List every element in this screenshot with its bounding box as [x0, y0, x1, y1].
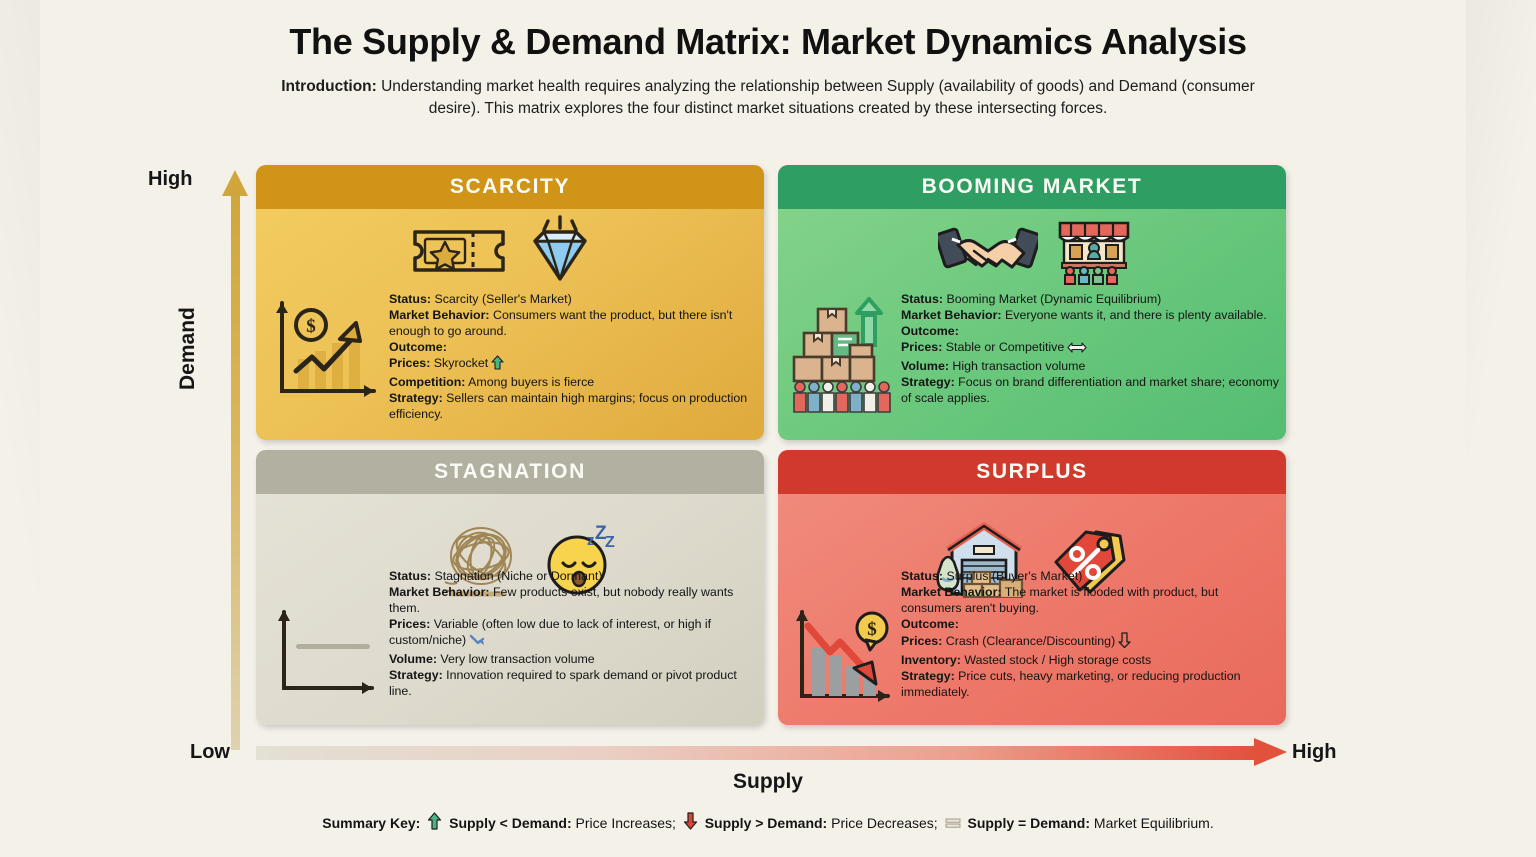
quadrant-surplus-body: $ Status: Surplus (Buyer's Market) Marke…	[778, 494, 1286, 725]
quadrant-scarcity-body: $ Status: Scarcity (Seller's Market) Mar…	[256, 209, 764, 440]
surplus-line-4-label: Inventory:	[901, 653, 961, 667]
summary-item-1-text: Price Decreases;	[827, 815, 937, 831]
surplus-line-4-text: Wasted stock / High storage costs	[961, 653, 1151, 667]
down-arrow-outline-icon	[1118, 632, 1131, 652]
stagnation-line-4-label: Strategy:	[389, 668, 443, 682]
equals-bars-icon	[945, 816, 961, 833]
boxes-up-arrow-crowd-icon	[790, 287, 894, 413]
booming-line-1-text: Everyone wants it, and there is plenty a…	[1002, 308, 1267, 322]
left-right-arrow-icon	[1067, 341, 1087, 358]
supply-axis	[256, 738, 1291, 766]
surplus-line-0-text: Surplus (Buyer's Market)	[943, 569, 1082, 583]
supply-axis-label: Supply	[0, 770, 1536, 794]
surplus-text-block: Status: Surplus (Buyer's Market) Market …	[901, 568, 1273, 700]
page-header: The Supply & Demand Matrix: Market Dynam…	[0, 22, 1536, 121]
booming-line-1: Market Behavior: Everyone wants it, and …	[901, 307, 1279, 323]
demand-high-label: High	[148, 168, 192, 191]
booming-line-0-text: Booming Market (Dynamic Equilibrium)	[943, 292, 1161, 306]
summary-key-label: Summary Key:	[322, 815, 420, 831]
summary-key: Summary Key: Supply < Demand: Price Incr…	[0, 812, 1536, 833]
surplus-line-1: Market Behavior: The market is flooded w…	[901, 584, 1273, 616]
handshake-icon	[938, 217, 1038, 283]
stagnation-line-3: Volume: Very low transaction volume	[389, 651, 747, 667]
booming-line-5-label: Strategy:	[901, 375, 955, 389]
quadrant-booming-heading: BOOMING MARKET	[778, 165, 1286, 209]
summary-item-0-text: Price Increases;	[572, 815, 676, 831]
introduction-label: Introduction:	[281, 78, 377, 95]
stagnation-line-1: Market Behavior: Few products exist, but…	[389, 584, 747, 616]
scarcity-line-0-text: Scarcity (Seller's Market)	[431, 292, 572, 306]
supply-high-label: High	[1292, 741, 1336, 764]
surplus-line-3-text: Crash (Clearance/Discounting)	[942, 634, 1115, 648]
booming-line-3: Prices: Stable or Competitive	[901, 339, 1279, 358]
up-arrow-green-icon	[491, 355, 504, 374]
stagnation-line-0-text: Stagnation (Niche or Dormant)	[431, 569, 602, 583]
demand-axis	[222, 170, 248, 750]
booming-line-5: Strategy: Focus on brand differentiation…	[901, 374, 1279, 406]
scarcity-line-3-label: Prices:	[389, 356, 430, 370]
booming-line-0-label: Status:	[901, 292, 943, 306]
introduction-text: Understanding market health requires ana…	[377, 78, 1255, 117]
quadrant-booming-body: Status: Booming Market (Dynamic Equilibr…	[778, 209, 1286, 440]
booming-line-4: Volume: High transaction volume	[901, 358, 1279, 374]
stagnation-text-block: Status: Stagnation (Niche or Dormant) Ma…	[389, 568, 747, 699]
surplus-line-4: Inventory: Wasted stock / High storage c…	[901, 652, 1273, 668]
surplus-line-2: Outcome:	[901, 616, 1273, 632]
stagnation-line-3-text: Very low transaction volume	[437, 652, 595, 666]
down-right-arrow-blue-icon	[469, 634, 486, 651]
stagnation-line-2-label: Prices:	[389, 617, 430, 631]
quadrant-surplus-heading: SURPLUS	[778, 450, 1286, 494]
scarcity-line-5-label: Strategy:	[389, 391, 443, 405]
booming-line-2: Outcome:	[901, 323, 1279, 339]
quadrant-scarcity[interactable]: SCARCITY	[256, 165, 764, 440]
svg-text:Z: Z	[605, 534, 615, 551]
scarcity-line-4: Competition: Among buyers is fierce	[389, 374, 752, 390]
page-title: The Supply & Demand Matrix: Market Dynam…	[0, 22, 1536, 62]
demand-axis-label: Demand	[176, 307, 200, 390]
surplus-line-1-label: Market Behavior:	[901, 585, 1002, 599]
scarcity-line-0-label: Status:	[389, 292, 431, 306]
scarcity-line-1-label: Market Behavior:	[389, 308, 490, 322]
supply-axis-shaft	[256, 746, 1256, 760]
quadrant-booming-market[interactable]: BOOMING MARKET	[778, 165, 1286, 440]
market-stall-icon	[1054, 215, 1134, 285]
surplus-line-3: Prices: Crash (Clearance/Discounting)	[901, 632, 1273, 652]
quadrant-stagnation-heading: STAGNATION	[256, 450, 764, 494]
scarcity-line-1: Market Behavior: Consumers want the prod…	[389, 307, 752, 339]
scarcity-line-2: Outcome:	[389, 339, 752, 355]
booming-line-4-label: Volume:	[901, 359, 949, 373]
summary-item-1-bold: Supply > Demand:	[705, 815, 828, 831]
supply-axis-arrowhead	[1254, 738, 1287, 766]
booming-text-block: Status: Booming Market (Dynamic Equilibr…	[901, 291, 1279, 406]
surplus-line-5: Strategy: Price cuts, heavy marketing, o…	[901, 668, 1273, 700]
booming-line-4-text: High transaction volume	[949, 359, 1085, 373]
surplus-line-0-label: Status:	[901, 569, 943, 583]
quadrant-scarcity-heading: SCARCITY	[256, 165, 764, 209]
booming-line-1-label: Market Behavior:	[901, 308, 1002, 322]
scarcity-text-block: Status: Scarcity (Seller's Market) Marke…	[389, 291, 752, 422]
booming-line-5-text: Focus on brand differentiation and marke…	[901, 375, 1279, 405]
booming-line-3-text: Stable or Competitive	[942, 340, 1064, 354]
scarcity-line-3-text: Skyrocket	[430, 356, 488, 370]
diamond-icon	[523, 215, 597, 287]
booming-line-2-label: Outcome:	[901, 324, 959, 338]
paper-edge-right	[1466, 0, 1536, 857]
demand-axis-shaft	[231, 192, 240, 750]
down-arrow-red-icon	[683, 812, 698, 833]
scarcity-line-5: Strategy: Sellers can maintain high marg…	[389, 390, 752, 422]
stagnation-line-2-text: Variable (often low due to lack of inter…	[389, 617, 711, 647]
surplus-line-3-label: Prices:	[901, 634, 942, 648]
summary-item-2-bold: Supply = Demand:	[967, 815, 1090, 831]
scarcity-line-0: Status: Scarcity (Seller's Market)	[389, 291, 752, 307]
paper-edge-left	[0, 0, 40, 857]
stagnation-line-3-label: Volume:	[389, 652, 437, 666]
surplus-side-icon: $	[790, 606, 898, 715]
scarcity-line-3: Prices: Skyrocket	[389, 355, 752, 374]
quadrant-stagnation[interactable]: STAGNATION	[256, 450, 764, 725]
stagnation-line-2: Prices: Variable (often low due to lack …	[389, 616, 747, 651]
demand-low-label: Low	[190, 741, 230, 764]
scarcity-side-icon: $	[270, 297, 382, 408]
surplus-line-0: Status: Surplus (Buyer's Market)	[901, 568, 1273, 584]
up-arrow-green-icon	[427, 812, 442, 833]
surplus-line-2-label: Outcome:	[901, 617, 959, 631]
booming-line-3-label: Prices:	[901, 340, 942, 354]
quadrant-surplus[interactable]: SURPLUS	[778, 450, 1286, 725]
quadrant-stagnation-body: z Z Z Status: Stagnation (Niche or Dorma…	[256, 494, 764, 725]
booming-icon-row	[938, 215, 1134, 285]
flat-line-chart-icon	[270, 606, 380, 702]
rising-chart-dollar-icon: $	[270, 297, 382, 403]
booming-line-0: Status: Booming Market (Dynamic Equilibr…	[901, 291, 1279, 307]
ticket-star-icon	[411, 218, 507, 284]
scarcity-line-5-text: Sellers can maintain high margins; focus…	[389, 391, 747, 421]
stagnation-line-4: Strategy: Innovation required to spark d…	[389, 667, 747, 699]
stagnation-line-0-label: Status:	[389, 569, 431, 583]
summary-item-0-bold: Supply < Demand:	[449, 815, 572, 831]
stagnation-line-0: Status: Stagnation (Niche or Dormant)	[389, 568, 747, 584]
scarcity-line-4-text: Among buyers is fierce	[465, 375, 594, 389]
svg-text:$: $	[867, 619, 877, 640]
surplus-line-5-label: Strategy:	[901, 669, 955, 683]
stagnation-side-icon	[270, 606, 380, 707]
booming-side-icon	[790, 287, 894, 418]
scarcity-line-2-label: Outcome:	[389, 340, 447, 354]
scarcity-line-4-label: Competition:	[389, 375, 465, 389]
summary-item-2-text: Market Equilibrium.	[1090, 815, 1214, 831]
svg-text:$: $	[306, 316, 316, 337]
scarcity-icon-row	[411, 215, 597, 287]
stagnation-line-1-label: Market Behavior:	[389, 585, 490, 599]
introduction-paragraph: Introduction: Understanding market healt…	[258, 76, 1278, 121]
supply-demand-matrix: SCARCITY	[256, 165, 1286, 725]
falling-chart-dollar-icon: $	[790, 606, 898, 710]
svg-text:z: z	[587, 532, 595, 549]
